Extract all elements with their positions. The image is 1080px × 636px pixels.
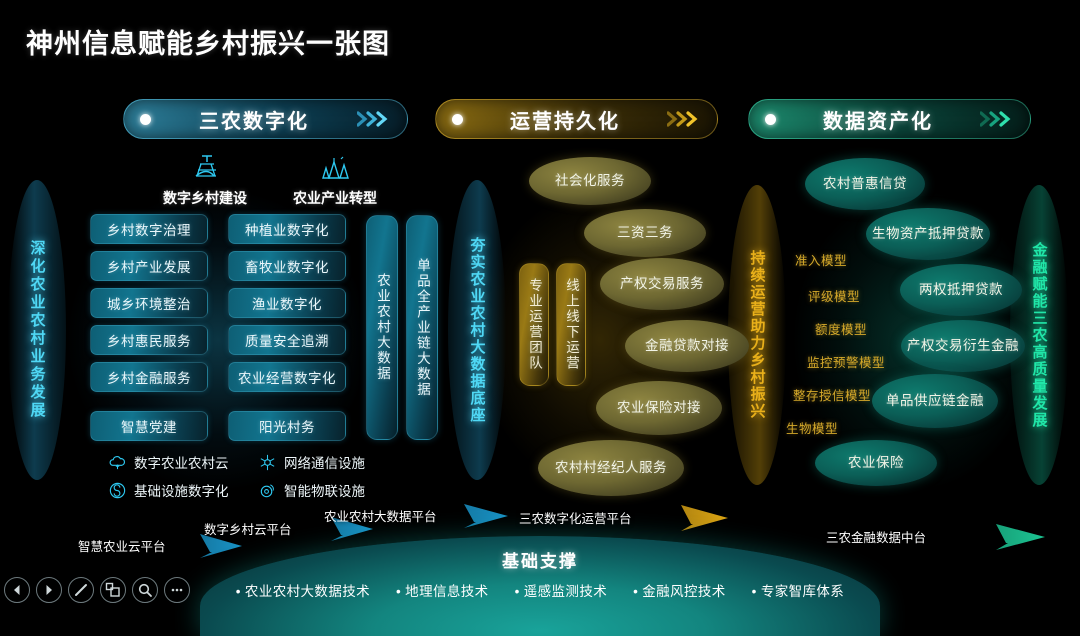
base-item[interactable]: 金融风控技术 <box>633 580 726 600</box>
chip-item[interactable]: 种植业数字化 <box>228 214 346 244</box>
head-digital-village: 数字乡村建设 <box>145 150 265 208</box>
page-title: 神州信息赋能乡村振兴一张图 <box>26 22 390 61</box>
base-item[interactable]: 专家智库体系 <box>752 580 845 600</box>
previous-button[interactable] <box>4 577 30 603</box>
operation-oval[interactable]: 金融贷款对接 <box>625 320 749 372</box>
data-asset-oval[interactable]: 生物资产抵押贷款 <box>866 208 990 260</box>
village-build-icon <box>145 150 265 186</box>
section-title-operation: 运营持久化 <box>463 105 667 134</box>
platform-label: 数字乡村云平台 <box>198 519 292 538</box>
head-agriculture-transform: 农业产业转型 <box>275 150 395 208</box>
section-header-data-asset[interactable]: 数据资产化 <box>748 99 1031 139</box>
model-label: 整存授信模型 <box>793 385 871 404</box>
chip-item[interactable]: 乡村金融服务 <box>90 362 208 392</box>
more-button[interactable] <box>164 577 190 603</box>
operation-oval[interactable]: 农村村经纪人服务 <box>538 440 684 496</box>
bullet-dot-icon <box>765 114 776 125</box>
chip-item[interactable]: 城乡环境整治 <box>90 288 208 318</box>
infographic-canvas: 神州信息赋能乡村振兴一张图 三农数字化 运营持久化 数据资产化 <box>0 0 1080 607</box>
data-asset-oval[interactable]: 单品供应链金融 <box>872 374 998 428</box>
infra-label: 基础设施数字化 <box>134 480 229 500</box>
head-label: 数字乡村建设 <box>145 188 265 208</box>
rail-left-inner: 夯实农业农村大数据底座 <box>448 180 506 480</box>
section-header-digital[interactable]: 三农数字化 <box>123 99 408 139</box>
base-item-list: 农业农村大数据技术 地理信息技术 遥感监测技术 金融风控技术 专家智库体系 <box>200 580 880 600</box>
chip-item[interactable]: 畜牧业数字化 <box>228 251 346 281</box>
base-item[interactable]: 遥感监测技术 <box>515 580 608 600</box>
digital-infra-icon <box>108 481 127 500</box>
vbar-operation-team[interactable]: 专业运营团队 <box>519 263 549 386</box>
rail-left-outer: 深化农业农村业务发展 <box>8 180 66 480</box>
bullet-dot-icon <box>140 114 151 125</box>
platform-label: 三农金融数据中台 <box>820 527 926 546</box>
search-button[interactable] <box>132 577 158 603</box>
infra-label: 智能物联设施 <box>284 480 365 500</box>
chevron-right-icon <box>357 111 391 127</box>
infra-item-digital-infra[interactable]: 基础设施数字化 <box>108 480 258 500</box>
network-icon <box>258 453 277 472</box>
platform-label: 农业农村大数据平台 <box>318 506 437 525</box>
head-label: 农业产业转型 <box>275 188 395 208</box>
cloud-icon <box>108 453 127 472</box>
model-label: 生物模型 <box>786 418 838 437</box>
chevron-right-icon <box>980 111 1014 127</box>
base-title: 基础支撑 <box>200 547 880 572</box>
data-asset-oval[interactable]: 产权交易衍生金融 <box>901 320 1025 372</box>
infra-item-network[interactable]: 网络通信设施 <box>258 452 408 472</box>
operation-oval[interactable]: 农业保险对接 <box>596 381 722 435</box>
model-label: 评级模型 <box>808 286 860 305</box>
more-icon <box>169 582 185 598</box>
previous-icon <box>10 583 24 597</box>
vbar-online-offline[interactable]: 线上线下运营 <box>556 263 586 386</box>
bullet-dot-icon <box>452 114 463 125</box>
platform-arrow-3[interactable]: 农业农村大数据平台 <box>318 500 508 530</box>
layout-icon <box>105 582 121 598</box>
platform-arrow-4[interactable]: 三农数字化运营平台 <box>513 502 728 532</box>
iot-icon <box>258 481 277 500</box>
vbar-supplychain-bigdata[interactable]: 单品全产业链大数据 <box>406 215 438 440</box>
infra-item-cloud[interactable]: 数字农业农村云 <box>108 452 258 472</box>
operation-oval[interactable]: 社会化服务 <box>529 157 651 205</box>
digital-infrastructure-list: 数字农业农村云 网络通信设施 基础设施数字化 <box>108 452 408 500</box>
chip-item[interactable]: 渔业数字化 <box>228 288 346 318</box>
vbar-agriculture-bigdata[interactable]: 农业农村大数据 <box>366 215 398 440</box>
chevron-right-icon <box>667 111 701 127</box>
chip-item[interactable]: 质量安全追溯 <box>228 325 346 355</box>
bottom-toolbar <box>4 577 190 603</box>
chip-item[interactable]: 乡村数字治理 <box>90 214 208 244</box>
pen-icon <box>73 582 89 598</box>
data-asset-oval[interactable]: 农业保险 <box>815 440 937 486</box>
digital-chip-column-1: 乡村数字治理 乡村产业发展 城乡环境整治 乡村惠民服务 乡村金融服务 智慧党建 <box>90 214 208 441</box>
digital-chip-column-2: 种植业数字化 畜牧业数字化 渔业数字化 质量安全追溯 农业经营数字化 阳光村务 <box>228 214 346 441</box>
layout-button[interactable] <box>100 577 126 603</box>
data-asset-oval[interactable]: 农村普惠信贷 <box>805 158 925 210</box>
platform-label: 三农数字化运营平台 <box>513 508 632 527</box>
base-support-band: 基础支撑 农业农村大数据技术 地理信息技术 遥感监测技术 金融风控技术 专家智库… <box>200 536 880 636</box>
section-title-data-asset: 数据资产化 <box>776 105 980 134</box>
platform-label: 智慧农业云平台 <box>72 536 166 555</box>
data-asset-oval[interactable]: 两权抵押贷款 <box>900 264 1022 316</box>
search-icon <box>137 582 153 598</box>
base-item[interactable]: 地理信息技术 <box>396 580 489 600</box>
operation-oval[interactable]: 三资三务 <box>584 209 706 257</box>
model-label: 监控预警模型 <box>807 352 885 371</box>
infra-label: 网络通信设施 <box>284 452 365 472</box>
pen-button[interactable] <box>68 577 94 603</box>
section-header-operation[interactable]: 运营持久化 <box>435 99 718 139</box>
model-label: 额度模型 <box>815 319 867 338</box>
section-title-digital: 三农数字化 <box>151 105 357 134</box>
chip-item[interactable]: 农业经营数字化 <box>228 362 346 392</box>
agriculture-transform-icon <box>275 150 395 186</box>
infra-item-iot[interactable]: 智能物联设施 <box>258 480 408 500</box>
next-button[interactable] <box>36 577 62 603</box>
infra-label: 数字农业农村云 <box>134 452 229 472</box>
next-icon <box>42 583 56 597</box>
operation-oval[interactable]: 产权交易服务 <box>600 258 724 310</box>
chip-item[interactable]: 乡村惠民服务 <box>90 325 208 355</box>
chip-item[interactable]: 乡村产业发展 <box>90 251 208 281</box>
chip-item[interactable]: 智慧党建 <box>90 411 208 441</box>
chip-item[interactable]: 阳光村务 <box>228 411 346 441</box>
base-item[interactable]: 农业农村大数据技术 <box>236 580 370 600</box>
model-label: 准入模型 <box>795 250 847 269</box>
